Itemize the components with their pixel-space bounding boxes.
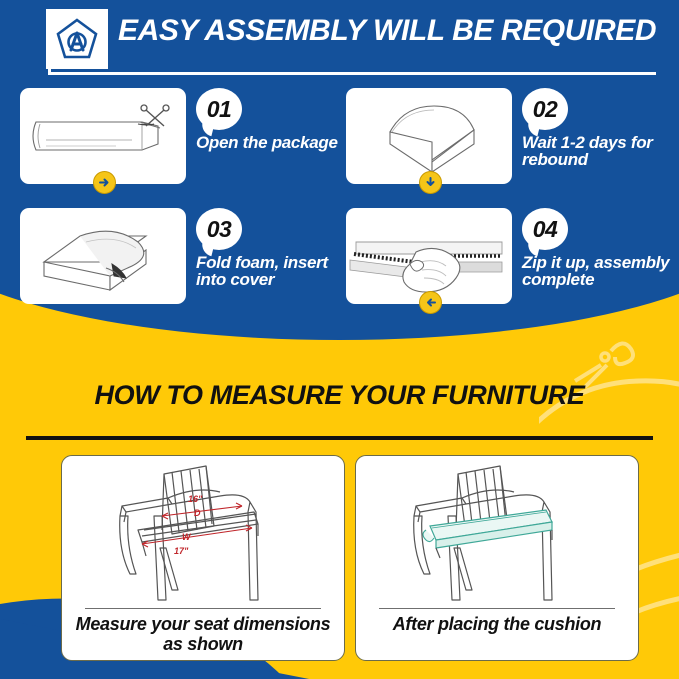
step-card-01: 01 Open the package (20, 88, 344, 196)
patio-chair-with-cushion-illustration (356, 460, 636, 605)
step-03-label: Fold foam, insert into cover (196, 254, 356, 289)
fold-foam-into-cover-illustration (20, 208, 186, 304)
patio-chair-with-dimensions-illustration: 16" D W 17" (62, 460, 342, 605)
step-card-04: 04 Zip it up, assembly complete (346, 208, 670, 316)
step-01-text: 01 Open the package (196, 88, 356, 151)
header-divider (48, 72, 656, 75)
step-02-label: Wait 1-2 days for rebound (522, 134, 679, 169)
annotation-depth-value: 16" (188, 494, 203, 504)
step-card-03: 03 Fold foam, insert into cover (20, 208, 344, 316)
measure-card-separator (379, 608, 615, 609)
step-03-text: 03 Fold foam, insert into cover (196, 208, 356, 289)
step-03-number: 03 (196, 208, 242, 250)
infographic-poster: EASY ASSEMBLY WILL BE REQUIRED (0, 0, 679, 679)
step-04-number: 04 (522, 208, 568, 250)
step-02-image (346, 88, 512, 184)
page-title: EASY ASSEMBLY WILL BE REQUIRED (118, 14, 656, 48)
measure-card-caption: Measure your seat dimensions as shown (62, 614, 344, 654)
measure-card-separator (85, 608, 321, 609)
step-03-image (20, 208, 186, 304)
step-02-number: 02 (522, 88, 568, 130)
house-a-logo-icon (46, 9, 108, 69)
step-01-label: Open the package (196, 134, 356, 151)
measure-card-caption: After placing the cushion (356, 614, 638, 634)
step-04-image (346, 208, 512, 304)
step-02-arrow-badge (419, 171, 442, 194)
assembly-header: EASY ASSEMBLY WILL BE REQUIRED (0, 0, 679, 62)
foam-cushion-rebound-illustration (346, 88, 512, 184)
step-02-text: 02 Wait 1-2 days for rebound (522, 88, 679, 169)
step-04-arrow-badge (419, 291, 442, 314)
annotation-depth-letter: D (194, 508, 201, 518)
vacuum-package-with-scissors-illustration (20, 88, 186, 184)
step-card-02: 02 Wait 1-2 days for rebound (346, 88, 670, 196)
measure-card-cushion: After placing the cushion (355, 455, 639, 661)
measure-card-dimensions: 16" D W 17" Measure your seat dimensions… (61, 455, 345, 661)
step-01-number: 01 (196, 88, 242, 130)
assembly-section: EASY ASSEMBLY WILL BE REQUIRED (0, 0, 679, 340)
step-04-label: Zip it up, assembly complete (522, 254, 679, 289)
hand-closing-zipper-illustration (346, 208, 512, 304)
step-04-text: 04 Zip it up, assembly complete (522, 208, 679, 289)
measure-title-underline (26, 436, 653, 440)
annotation-width-value: 17" (174, 546, 189, 556)
step-01-arrow-badge (93, 171, 116, 194)
step-01-image (20, 88, 186, 184)
measure-section-title: HOW TO MEASURE YOUR FURNITURE (0, 380, 679, 411)
